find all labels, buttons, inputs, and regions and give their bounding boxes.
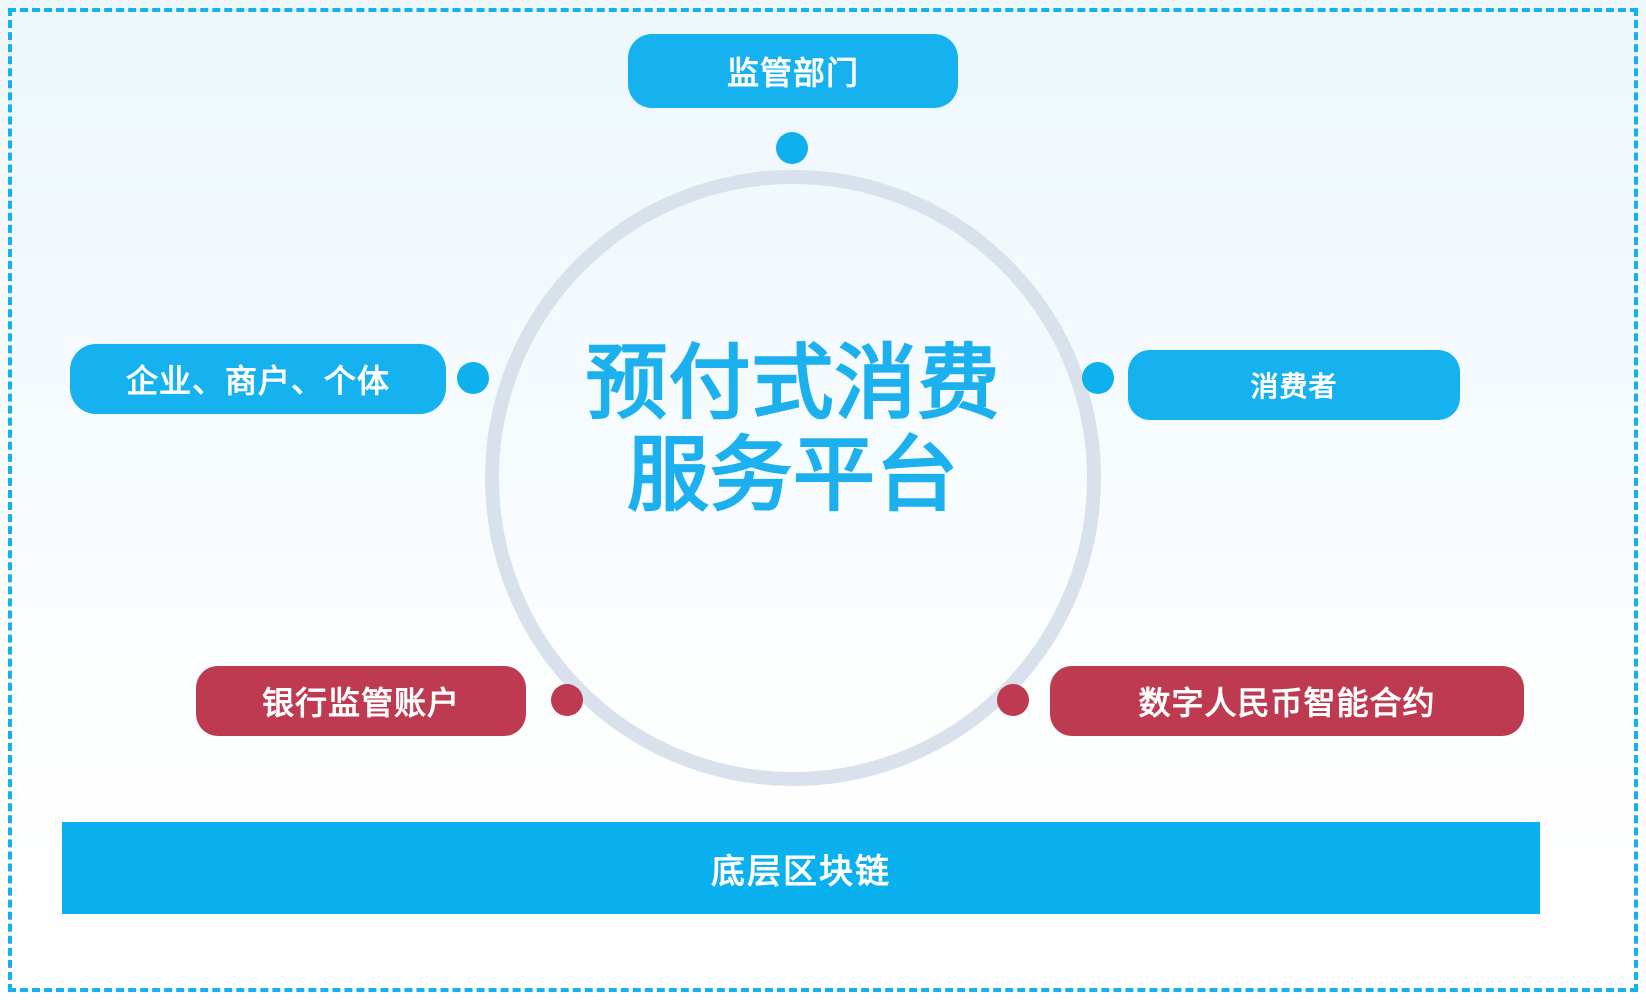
center-label-line-2: 服务平台 [560, 430, 1026, 522]
center-label-line-1: 预付式消费 [560, 338, 1026, 430]
connector-dot-consumer [1082, 362, 1114, 394]
connector-dot-bank [551, 684, 583, 716]
node-digital-rmb-smart-contract[interactable]: 数字人民币智能合约 [1050, 666, 1524, 736]
node-regulator[interactable]: 监管部门 [628, 34, 958, 108]
connector-dot-smartcontract [997, 684, 1029, 716]
diagram-canvas: 预付式消费 服务平台 监管部门 企业、商户、个体 消费者 银行监管账户 数字人民… [0, 0, 1646, 1000]
node-consumer[interactable]: 消费者 [1128, 350, 1460, 420]
center-platform-label: 预付式消费 服务平台 [560, 338, 1026, 522]
connector-dot-business [457, 362, 489, 394]
connector-dot-regulator [776, 132, 808, 164]
node-bank-supervision-account[interactable]: 银行监管账户 [196, 666, 526, 736]
base-layer-blockchain-bar[interactable]: 底层区块链 [62, 822, 1540, 914]
node-business[interactable]: 企业、商户、个体 [70, 344, 446, 414]
